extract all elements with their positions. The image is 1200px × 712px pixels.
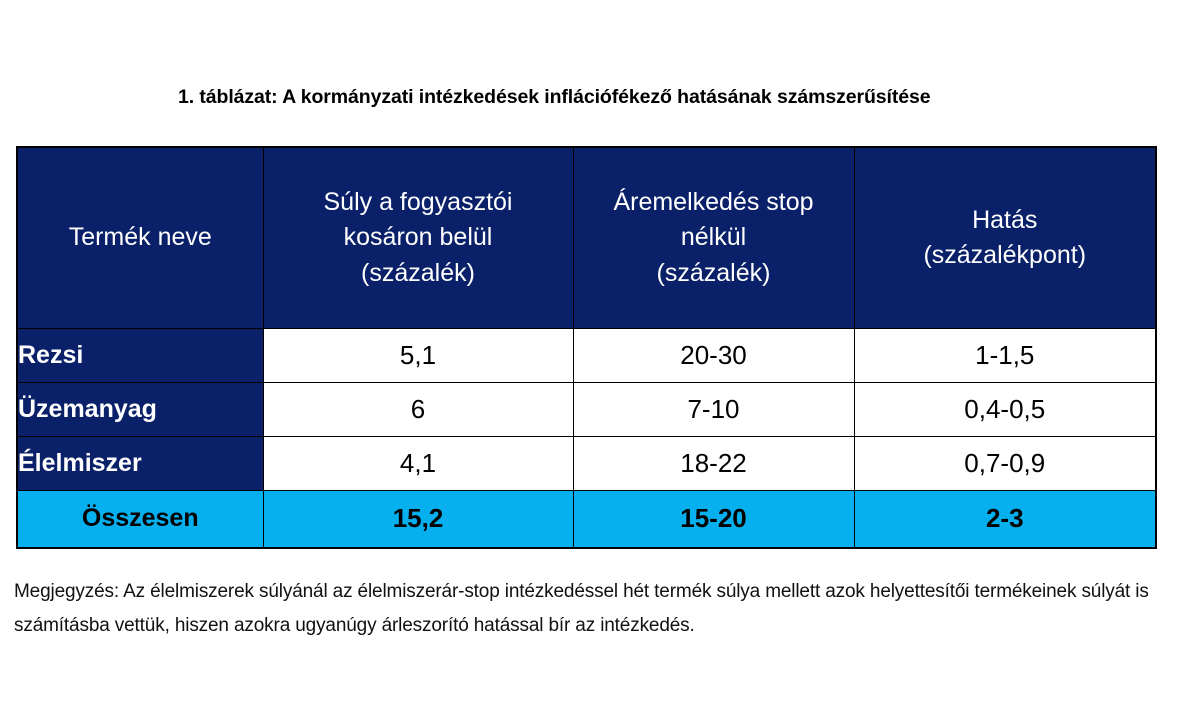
header-line: (százalék) — [274, 256, 563, 292]
cell-uzemanyag-weight: 6 — [263, 383, 573, 437]
header-line: Termék neve — [28, 220, 253, 256]
column-header-basket-weight: Súly a fogyasztói kosáron belül (százalé… — [263, 147, 573, 329]
header-line: (százalékpont) — [865, 238, 1146, 274]
row-label-rezsi: Rezsi — [17, 329, 263, 383]
cell-elelmiszer-weight: 4,1 — [263, 437, 573, 491]
column-header-product-name: Termék neve — [17, 147, 263, 329]
header-line: Súly a fogyasztói — [274, 185, 563, 221]
table-total-row: Összesen 15,2 15-20 2-3 — [17, 491, 1156, 548]
cell-total-effect: 2-3 — [854, 491, 1156, 548]
table-footnote: Megjegyzés: Az élelmiszerek súlyánál az … — [14, 575, 1186, 643]
column-header-effect: Hatás (százalékpont) — [854, 147, 1156, 329]
table-row: Üzemanyag 6 7-10 0,4-0,5 — [17, 383, 1156, 437]
header-line: kosáron belül — [274, 220, 563, 256]
page-title: 1. táblázat: A kormányzati intézkedések … — [178, 86, 930, 109]
header-line: Áremelkedés stop — [584, 185, 844, 221]
table-header-row: Termék neve Súly a fogyasztói kosáron be… — [17, 147, 1156, 329]
cell-rezsi-effect: 1-1,5 — [854, 329, 1156, 383]
table-row: Rezsi 5,1 20-30 1-1,5 — [17, 329, 1156, 383]
document-page: 1. táblázat: A kormányzati intézkedések … — [0, 0, 1200, 712]
column-header-without-price-stop: Áremelkedés stop nélkül (százalék) — [573, 147, 854, 329]
cell-total-without-stop: 15-20 — [573, 491, 854, 548]
header-line: (százalék) — [584, 256, 844, 292]
cell-rezsi-without-stop: 20-30 — [573, 329, 854, 383]
cell-rezsi-weight: 5,1 — [263, 329, 573, 383]
inflation-measures-table: Termék neve Súly a fogyasztói kosáron be… — [16, 146, 1157, 549]
table-row: Élelmiszer 4,1 18-22 0,7-0,9 — [17, 437, 1156, 491]
cell-elelmiszer-without-stop: 18-22 — [573, 437, 854, 491]
row-label-uzemanyag: Üzemanyag — [17, 383, 263, 437]
row-label-elelmiszer: Élelmiszer — [17, 437, 263, 491]
cell-uzemanyag-effect: 0,4-0,5 — [854, 383, 1156, 437]
header-line: nélkül — [584, 220, 844, 256]
cell-uzemanyag-without-stop: 7-10 — [573, 383, 854, 437]
cell-elelmiszer-effect: 0,7-0,9 — [854, 437, 1156, 491]
row-label-osszesen: Összesen — [17, 491, 263, 548]
cell-total-weight: 15,2 — [263, 491, 573, 548]
header-line: Hatás — [865, 203, 1146, 239]
